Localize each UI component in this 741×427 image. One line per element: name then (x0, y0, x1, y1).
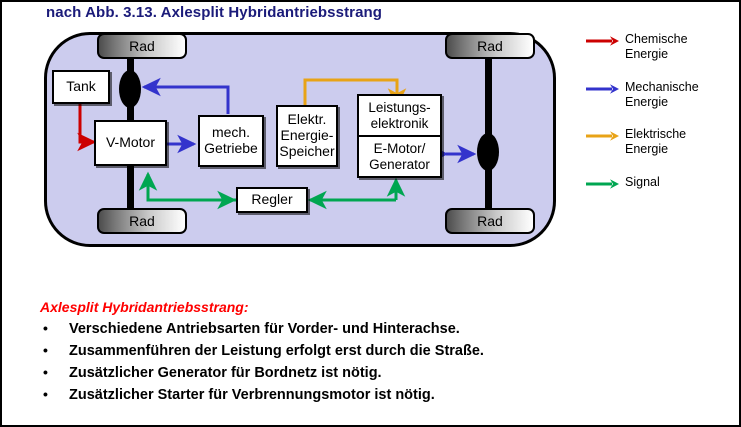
legend-label-signal-line1: Signal (625, 175, 660, 190)
legend-label-mechanical-line1: Mechanische (625, 80, 699, 95)
differential-right (477, 133, 499, 171)
wheel-rear-left: Rad (97, 208, 187, 234)
component-regler-label: Regler (251, 192, 292, 208)
component-leistungselektronik: Leistungs- elektronik (359, 96, 440, 137)
legend-label-chemical-line2: Energie (625, 47, 688, 62)
legend-label-electrical-line1: Elektrische (625, 127, 686, 142)
component-v-motor-label: V-Motor (106, 135, 155, 151)
note-item: • Verschiedene Antriebsarten für Vorder-… (40, 320, 600, 338)
wheel-front-right: Rad (445, 33, 535, 59)
component-energiespeicher-line3: Speicher (279, 144, 334, 160)
component-emotor-line2: Generator (369, 157, 430, 172)
legend-label-mechanical: Mechanische Energie (623, 80, 699, 111)
note-bullet-icon: • (40, 386, 69, 402)
note-text: Zusammenführen der Leistung erfolgt erst… (69, 342, 484, 360)
note-bullet-icon: • (40, 320, 69, 336)
wheel-label: Rad (477, 39, 503, 53)
component-tank-label: Tank (66, 79, 96, 95)
wheel-label: Rad (477, 214, 503, 228)
legend-item-electrical: Elektrische Energie (585, 127, 737, 158)
wheel-label: Rad (129, 39, 155, 53)
component-energiespeicher: Elektr. Energie- Speicher (276, 105, 338, 167)
component-getriebe-line2: Getriebe (204, 141, 258, 157)
page-title: nach Abb. 3.13. Axlesplit Hybridantriebs… (46, 4, 382, 21)
legend-item-mechanical: Mechanische Energie (585, 80, 737, 111)
component-emotor-generator: E-Motor/ Generator (359, 137, 440, 176)
notes-heading: Axlesplit Hybridantriebsstrang: (40, 299, 600, 315)
component-getriebe-line1: mech. (212, 125, 250, 141)
legend-arrow-mechanical-icon (585, 80, 623, 100)
wheel-rear-right: Rad (445, 208, 535, 234)
note-text: Zusätzlicher Starter für Verbrennungsmot… (69, 386, 435, 404)
wheel-front-left: Rad (97, 33, 187, 59)
component-getriebe: mech. Getriebe (198, 115, 264, 167)
note-bullet-icon: • (40, 364, 69, 380)
notes-block: Axlesplit Hybridantriebsstrang: • Versch… (40, 299, 600, 409)
legend-arrow-electrical-icon (585, 127, 623, 147)
legend-arrow-signal-icon (585, 175, 623, 195)
legend-label-chemical: Chemische Energie (623, 32, 688, 63)
note-text: Verschiedene Antriebsarten für Vorder- u… (69, 320, 460, 338)
axle-shaft-right (485, 46, 492, 216)
legend-item-chemical: Chemische Energie (585, 32, 737, 63)
note-bullet-icon: • (40, 342, 69, 358)
component-emotor-line1: E-Motor/ (374, 141, 426, 156)
component-leistungselektronik-line2: elektronik (371, 116, 429, 131)
legend-arrow-chemical-icon (585, 32, 623, 52)
legend-label-chemical-line1: Chemische (625, 32, 688, 47)
component-powertrain-stack: Leistungs- elektronik E-Motor/ Generator (357, 94, 442, 178)
component-energiespeicher-line1: Elektr. (288, 112, 327, 128)
note-item: • Zusammenführen der Leistung erfolgt er… (40, 342, 600, 360)
note-item: • Zusätzlicher Generator für Bordnetz is… (40, 364, 600, 382)
legend-label-electrical-line2: Energie (625, 142, 686, 157)
legend-label-signal: Signal (623, 175, 660, 190)
legend-item-signal: Signal (585, 175, 737, 195)
differential-left (119, 70, 141, 108)
wheel-label: Rad (129, 214, 155, 228)
component-energiespeicher-line2: Energie- (281, 128, 334, 144)
legend: Chemische Energie Mechanische Energie (585, 32, 737, 212)
component-leistungselektronik-line1: Leistungs- (368, 100, 430, 115)
legend-label-mechanical-line2: Energie (625, 95, 699, 110)
component-v-motor: V-Motor (94, 120, 167, 166)
legend-label-electrical: Elektrische Energie (623, 127, 686, 158)
slide-page: nach Abb. 3.13. Axlesplit Hybridantriebs… (0, 0, 741, 427)
component-tank: Tank (52, 70, 110, 104)
component-regler: Regler (236, 187, 308, 213)
note-item: • Zusätzlicher Starter für Verbrennungsm… (40, 386, 600, 404)
note-text: Zusätzlicher Generator für Bordnetz ist … (69, 364, 382, 382)
